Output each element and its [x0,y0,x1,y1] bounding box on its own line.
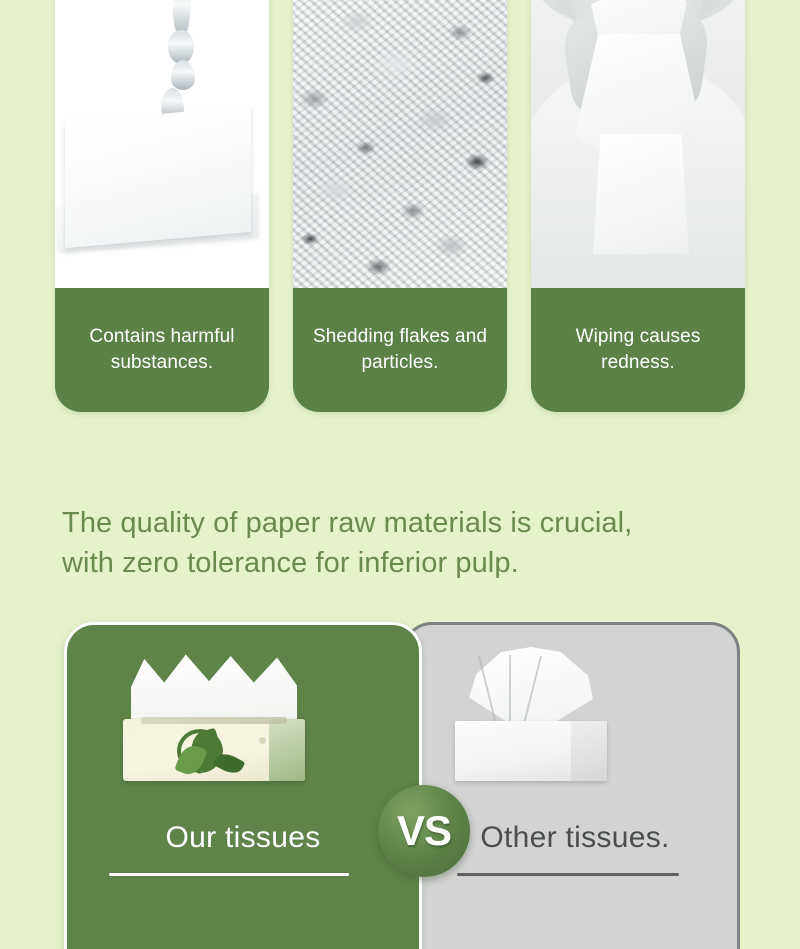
our-tissues-underline [109,873,349,876]
product-detail-page: Contains harmful substances. Shedding fl… [0,0,800,949]
problem-cards-row: Contains harmful substances. Shedding fl… [0,0,800,412]
other-tissues-panel[interactable]: Other tissues. [402,622,740,949]
green-leaf-branded-tissue-box [119,653,309,781]
chemical-dripping-on-tissue-photo [55,0,269,288]
problem-card[interactable]: Contains harmful substances. [55,0,269,412]
our-tissues-panel[interactable]: Our tissues [64,622,422,949]
vs-badge: VS [378,785,470,877]
child-wiping-nose-photo [531,0,745,288]
problem-card-label: Shedding flakes and particles. [293,288,507,412]
our-tissues-label: Our tissues [67,821,419,855]
comparison-section: Other tissues. Our tissues VS [64,622,740,949]
headline-line-2: with zero tolerance for inferior pulp. [62,544,762,584]
pulp-flakes-texture-photo [293,0,507,288]
other-tissues-underline [457,873,679,876]
problem-card-label: Wiping causes redness. [531,288,745,412]
plain-white-tissue-box [447,647,615,783]
section-headline: The quality of paper raw materials is cr… [62,504,762,583]
problem-card[interactable]: Shedding flakes and particles. [293,0,507,412]
problem-card[interactable]: Wiping causes redness. [531,0,745,412]
headline-line-1: The quality of paper raw materials is cr… [62,504,762,544]
problem-card-label: Contains harmful substances. [55,288,269,412]
